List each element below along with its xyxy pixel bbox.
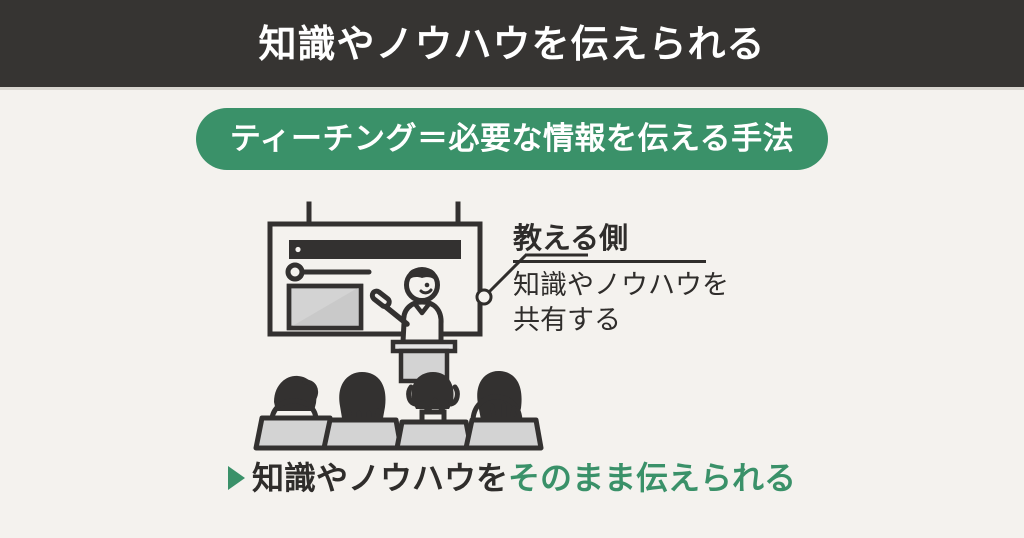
definition-banner-label: ティーチング＝必要な情報を伝える手法 [230, 124, 794, 155]
teacher-side-callout: 教える側 知識やノウハウを 共有する [513, 222, 873, 338]
audience-member-4 [466, 371, 541, 448]
illustration-stage: 教える側 知識やノウハウを 共有する [0, 196, 1024, 458]
header-divider [0, 87, 1024, 90]
header-bar: 知識やノウハウを伝えられる [0, 0, 1024, 87]
conclusion-text: 知識やノウハウをそのまま伝えられる [252, 462, 796, 494]
banner-row: ティーチング＝必要な情報を伝える手法 [0, 108, 1024, 170]
callout-body-line-2: 共有する [513, 304, 873, 339]
callout-body-line-1: 知識やノウハウを [513, 269, 873, 304]
audience-member-2 [324, 372, 401, 448]
screen-title-bar [289, 240, 461, 259]
seated-audience [256, 371, 541, 448]
callout-underline [513, 260, 706, 263]
conclusion-text-green: そのまま伝えられる [508, 459, 796, 497]
definition-banner: ティーチング＝必要な情報を伝える手法 [196, 108, 828, 170]
classroom-teaching-scene [252, 196, 552, 458]
triangle-right-icon [228, 466, 245, 490]
callout-heading: 教える側 [513, 222, 628, 258]
screen-image-block [289, 286, 361, 328]
screen-title-dot [295, 247, 300, 252]
page-title: 知識やノウハウを伝えられる [258, 25, 765, 63]
conclusion-text-dark: 知識やノウハウを [252, 459, 508, 497]
audience-member-3 [397, 372, 471, 448]
conclusion-row: 知識やノウハウをそのまま伝えられる [0, 462, 1024, 494]
